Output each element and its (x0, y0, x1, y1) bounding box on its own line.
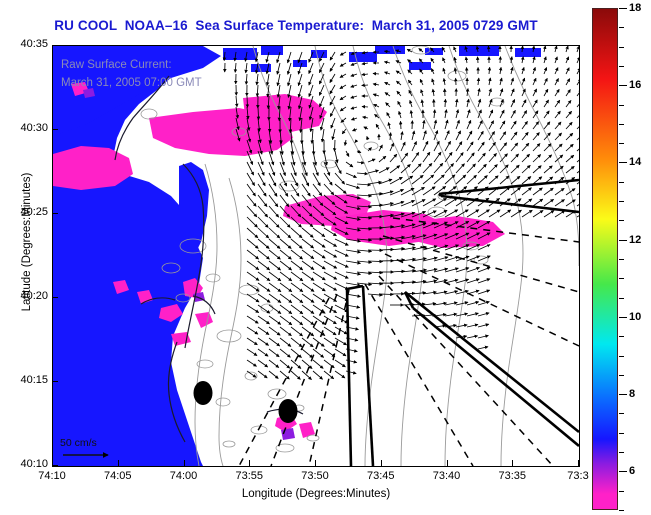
colorbar-tick-label: 12 (629, 234, 641, 246)
colorbar-minor-tick (619, 433, 624, 434)
colorbar-tick-label: 18 (629, 2, 641, 14)
y-tick-label: 40:15 (4, 374, 48, 386)
x-tick-label: 73:35 (498, 470, 526, 482)
colorbar-tick-label: 10 (629, 311, 641, 323)
colorbar-minor-tick (619, 452, 624, 453)
colorbar-minor-tick (619, 47, 624, 48)
colorbar[interactable] (592, 8, 618, 510)
x-tick-mark (184, 460, 185, 466)
velocity-scale-label: 50 cm/s (60, 437, 97, 449)
y-tick-label: 40:10 (4, 458, 48, 470)
colorbar-tick-mark (619, 162, 627, 163)
colorbar-tick-label: 6 (629, 465, 635, 477)
x-tick-mark (447, 460, 448, 466)
colorbar-minor-tick (619, 124, 624, 125)
x-tick-mark (578, 460, 579, 466)
y-tick-label: 40:30 (4, 122, 48, 134)
colorbar-minor-tick (619, 220, 624, 221)
x-tick-mark (315, 460, 316, 466)
y-tick-mark (52, 129, 58, 130)
colorbar-tick-mark (619, 394, 627, 395)
colorbar-tick-mark (619, 8, 627, 9)
map-plot-area[interactable]: Raw Surface Current: March 31, 2005 07:0… (52, 45, 580, 467)
colorbar-tick-mark (619, 471, 627, 472)
y-tick-mark (52, 297, 58, 298)
colorbar-tick-mark (619, 317, 627, 318)
colorbar-minor-tick (619, 356, 624, 357)
y-tick-mark (52, 381, 58, 382)
x-tick-label: 73:50 (301, 470, 329, 482)
colorbar-minor-tick (619, 298, 624, 299)
velocity-scale-arrow (53, 46, 579, 466)
x-tick-mark (52, 460, 53, 466)
y-tick-mark (52, 45, 58, 46)
y-axis-label: Latitude (Degrees:Minutes) (21, 137, 33, 347)
colorbar-minor-tick (619, 491, 624, 492)
x-tick-label: 74:05 (104, 470, 132, 482)
colorbar-tick-mark (619, 85, 627, 86)
colorbar-tick-label: 16 (629, 79, 641, 91)
colorbar-title-holder: Temperature (°C) (0, 0, 1, 1)
colorbar-minor-tick (619, 143, 624, 144)
y-tick-mark (52, 213, 58, 214)
colorbar-minor-tick (619, 201, 624, 202)
x-tick-mark (249, 460, 250, 466)
y-tick-label: 40:35 (4, 38, 48, 50)
colorbar-minor-tick (619, 259, 624, 260)
x-tick-mark (118, 460, 119, 466)
x-tick-label: 74:10 (38, 470, 66, 482)
colorbar-minor-tick (619, 413, 624, 414)
x-tick-mark (512, 460, 513, 466)
x-tick-label: 74:00 (170, 470, 198, 482)
colorbar-minor-tick (619, 278, 624, 279)
colorbar-minor-tick (619, 510, 624, 511)
colorbar-minor-tick (619, 182, 624, 183)
colorbar-gradient (593, 9, 617, 509)
figure-title: RU COOL NOAA–16 Sea Surface Temperature:… (0, 18, 592, 33)
figure-root: RU COOL NOAA–16 Sea Surface Temperature:… (0, 0, 651, 515)
x-tick-label: 73:45 (367, 470, 395, 482)
colorbar-minor-tick (619, 375, 624, 376)
map-canvas: Raw Surface Current: March 31, 2005 07:0… (53, 46, 579, 466)
x-tick-label: 73:40 (433, 470, 461, 482)
x-tick-label: 73:55 (235, 470, 263, 482)
x-axis-label: Longitude (Degrees:Minutes) (52, 488, 580, 500)
colorbar-tick-label: 8 (629, 388, 635, 400)
x-tick-mark (381, 460, 382, 466)
colorbar-minor-tick (619, 66, 624, 67)
colorbar-tick-label: 14 (629, 156, 641, 168)
colorbar-minor-tick (619, 336, 624, 337)
colorbar-tick-mark (619, 240, 627, 241)
colorbar-minor-tick (619, 27, 624, 28)
colorbar-minor-tick (619, 105, 624, 106)
x-tick-label: 73:3 (567, 470, 588, 482)
